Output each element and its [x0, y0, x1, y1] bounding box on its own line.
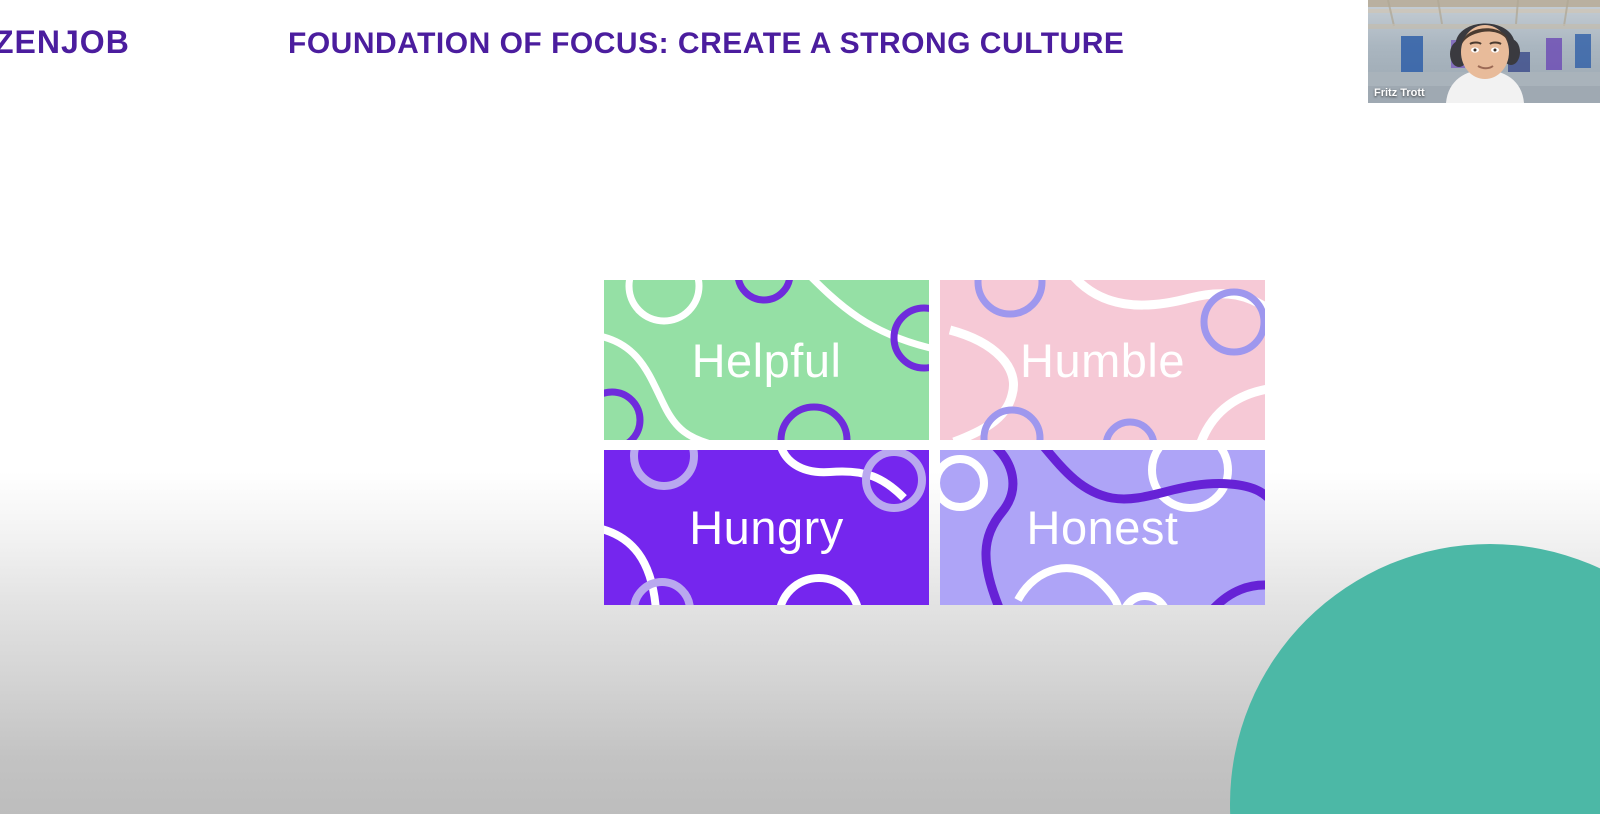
webcam-participant-name: Fritz Trott: [1374, 87, 1425, 99]
culture-tile-humble[interactable]: Humble: [940, 280, 1265, 440]
culture-tile-honest[interactable]: Honest: [940, 450, 1265, 605]
presentation-slide: ZENJOB FOUNDATION OF FOCUS: CREATE A STR…: [0, 0, 1600, 814]
culture-values-grid: Helpful Humble: [604, 280, 1265, 605]
webcam-video-tile[interactable]: Fritz Trott: [1368, 0, 1600, 103]
culture-tile-label: Helpful: [692, 337, 842, 384]
culture-tile-hungry[interactable]: Hungry: [604, 450, 929, 605]
culture-tile-label: Hungry: [689, 504, 844, 551]
culture-tile-label: Humble: [1020, 337, 1185, 384]
zenjob-logo: ZENJOB: [0, 24, 130, 61]
slide-title: FOUNDATION OF FOCUS: CREATE A STRONG CUL…: [288, 27, 1124, 61]
culture-tile-helpful[interactable]: Helpful: [604, 280, 929, 440]
teal-corner-decoration: [1230, 544, 1600, 814]
culture-tile-label: Honest: [1027, 504, 1179, 551]
